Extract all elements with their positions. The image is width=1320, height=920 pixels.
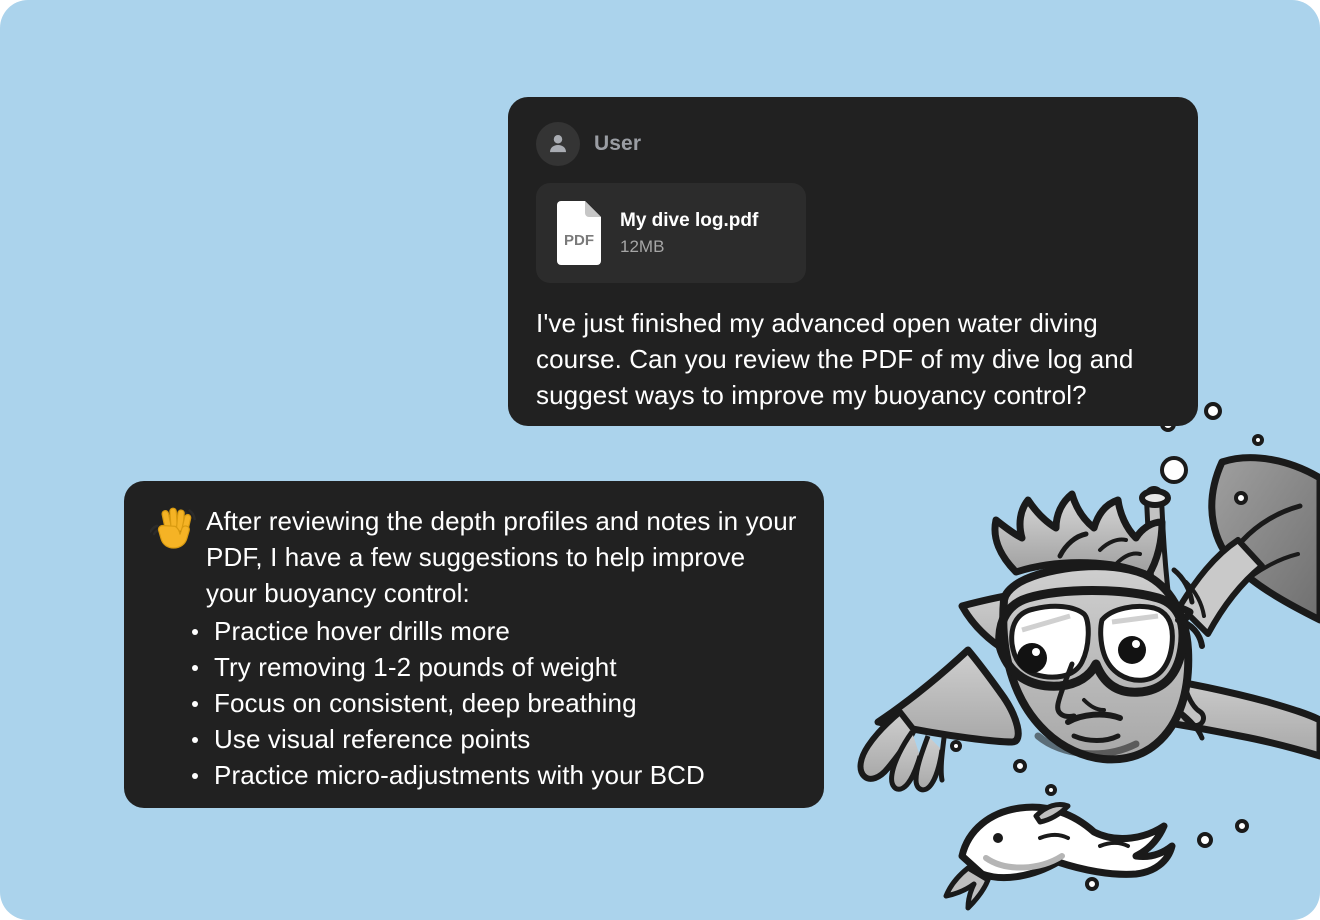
assistant-message-bubble: After reviewing the depth profiles and n…	[124, 481, 824, 808]
waving-hand-emoji	[150, 505, 196, 549]
list-item: Focus on consistent, deep breathing	[214, 685, 798, 721]
assistant-intro-text: After reviewing the depth profiles and n…	[206, 503, 798, 611]
list-item: Try removing 1-2 pounds of weight	[214, 649, 798, 685]
suggestion-list: Practice hover drills more Try removing …	[150, 613, 798, 793]
avatar	[536, 122, 580, 166]
user-message-text: I've just finished my advanced open wate…	[536, 305, 1170, 413]
message-header: User	[536, 121, 1170, 167]
list-item: Practice micro-adjustments with your BCD	[214, 757, 798, 793]
list-item: Practice hover drills more	[214, 613, 798, 649]
file-attachment-card[interactable]: PDF My dive log.pdf 12MB	[536, 183, 806, 283]
list-item: Use visual reference points	[214, 721, 798, 757]
message-author-label: User	[594, 132, 641, 156]
file-attachment-meta: My dive log.pdf 12MB	[620, 210, 758, 257]
assistant-intro-row: After reviewing the depth profiles and n…	[150, 503, 798, 611]
file-size-label: 12MB	[620, 237, 758, 257]
diver-figure	[861, 458, 1320, 790]
file-name-label: My dive log.pdf	[620, 210, 758, 232]
person-avatar-icon	[545, 131, 571, 157]
pdf-icon-label: PDF	[564, 232, 594, 249]
user-message-bubble: User PDF My dive log.pdf 12MB I've just …	[508, 97, 1198, 426]
fish-illustration	[946, 804, 1172, 908]
page-root: User PDF My dive log.pdf 12MB I've just …	[0, 0, 1320, 920]
air-bubbles-illustration	[952, 386, 1262, 889]
pdf-file-icon: PDF	[554, 200, 604, 266]
